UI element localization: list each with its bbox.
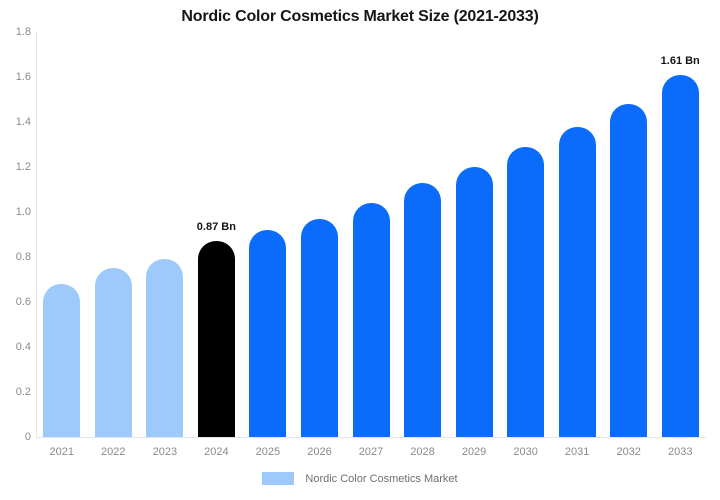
x-axis-tick-label-2029: 2029 [462,446,486,458]
bar-2025[interactable] [249,230,286,437]
y-axis-tick-label: 1.0 [1,206,31,218]
bar-2021[interactable] [43,284,80,437]
bar-value-label-2024: 0.87 Bn [197,221,236,233]
bar-2030[interactable] [507,147,544,437]
x-axis-line [36,437,706,438]
bar-2033[interactable] [662,75,699,437]
x-axis-tick-label-2021: 2021 [50,446,74,458]
x-axis-tick-label-2032: 2032 [616,446,640,458]
x-axis-tick-label-2033: 2033 [668,446,692,458]
y-axis-tick-label: 0.6 [1,296,31,308]
y-axis-tick-label: 1.6 [1,71,31,83]
bar-chart: Nordic Color Cosmetics Market Size (2021… [0,0,720,500]
x-axis-tick-label-2030: 2030 [513,446,537,458]
bar-value-label-2033: 1.61 Bn [661,55,700,67]
chart-title: Nordic Color Cosmetics Market Size (2021… [0,8,720,26]
bar-2022[interactable] [95,268,132,437]
x-axis-tick-label-2028: 2028 [410,446,434,458]
bar-2023[interactable] [146,259,183,437]
plot-area: 0.87 Bn1.61 Bn [36,32,706,437]
x-axis-tick-label-2025: 2025 [256,446,280,458]
y-axis-tick-label: 0.2 [1,386,31,398]
chart-legend: Nordic Color Cosmetics Market [0,472,720,485]
bar-2032[interactable] [610,104,647,437]
x-axis-tick-label-2023: 2023 [153,446,177,458]
x-axis-tick-label-2024: 2024 [204,446,228,458]
bar-2028[interactable] [404,183,441,437]
bar-2024[interactable] [198,241,235,437]
y-axis-tick-label: 1.2 [1,161,31,173]
legend-swatch-nordic-color-cosmetics-market [262,472,294,485]
x-axis-tick-label-2022: 2022 [101,446,125,458]
bar-2029[interactable] [456,167,493,437]
y-axis-tick-label: 1.4 [1,116,31,128]
y-axis-tick-label: 0.8 [1,251,31,263]
y-axis-tick-label: 1.8 [1,26,31,38]
y-axis-ticks: 00.20.40.60.81.01.21.41.61.8 [0,0,31,500]
x-axis-tick-label-2031: 2031 [565,446,589,458]
y-axis-tick-label: 0 [1,431,31,443]
x-axis-tick-label-2026: 2026 [307,446,331,458]
bar-2031[interactable] [559,127,596,438]
legend-label: Nordic Color Cosmetics Market [305,473,457,485]
y-axis-tick-label: 0.4 [1,341,31,353]
bar-2026[interactable] [301,219,338,437]
bar-2027[interactable] [353,203,390,437]
x-axis-tick-label-2027: 2027 [359,446,383,458]
